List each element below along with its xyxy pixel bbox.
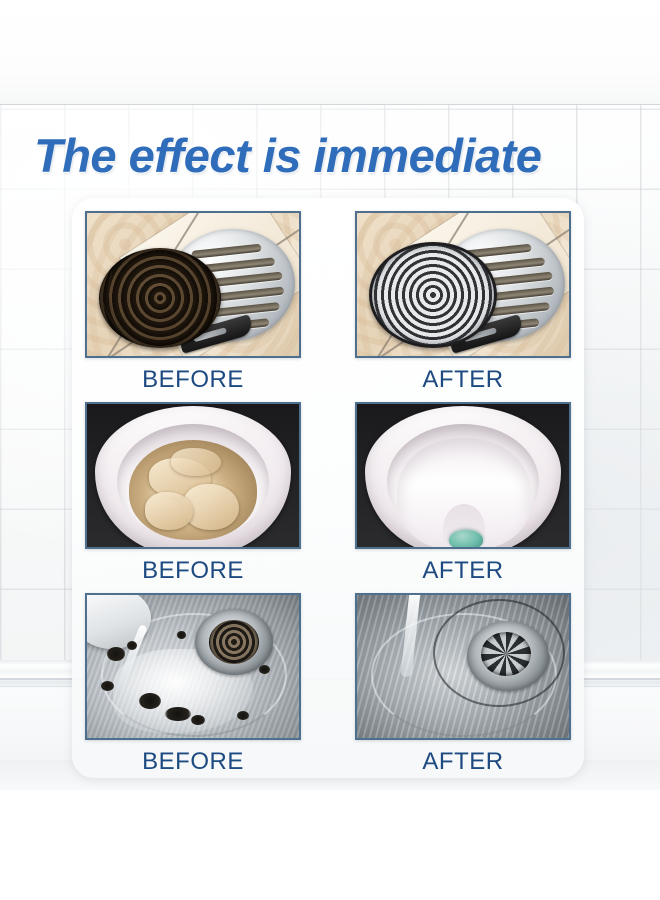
caption-after: AFTER [355,740,571,784]
wall-upper [0,0,660,105]
caption-after: AFTER [355,549,571,593]
photo-drain-after [355,211,571,358]
cleaning-tablet-icon [449,530,483,549]
comparison-cell-drain-after: AFTER [355,211,571,402]
clean-sink-drain-icon [467,621,549,691]
photo-toilet-after [355,402,571,549]
clogged-toilet-water-icon [129,440,257,540]
bottom-white-margin [0,790,660,900]
clean-strainer-icon [369,242,497,348]
comparison-cell-sink-after: AFTER [355,593,571,784]
caption-after: AFTER [355,358,571,402]
comparison-cell-sink-before: BEFORE [85,593,301,784]
page-title: The effect is immediate [34,126,654,186]
photo-toilet-before [85,402,301,549]
caption-before: BEFORE [85,549,301,593]
photo-sink-after [355,593,571,740]
clogged-strainer-icon [99,248,221,348]
comparison-cell-toilet-before: BEFORE [85,402,301,593]
comparison-cell-toilet-after: AFTER [355,402,571,593]
photo-sink-before [85,593,301,740]
comparison-panel: BEFORE AFTER [72,198,584,778]
comparison-cell-drain-before: BEFORE [85,211,301,402]
caption-before: BEFORE [85,358,301,402]
photo-drain-before [85,211,301,358]
caption-before: BEFORE [85,740,301,784]
before-after-grid: BEFORE AFTER [85,211,571,784]
clean-toilet-bowl-icon [397,438,531,549]
